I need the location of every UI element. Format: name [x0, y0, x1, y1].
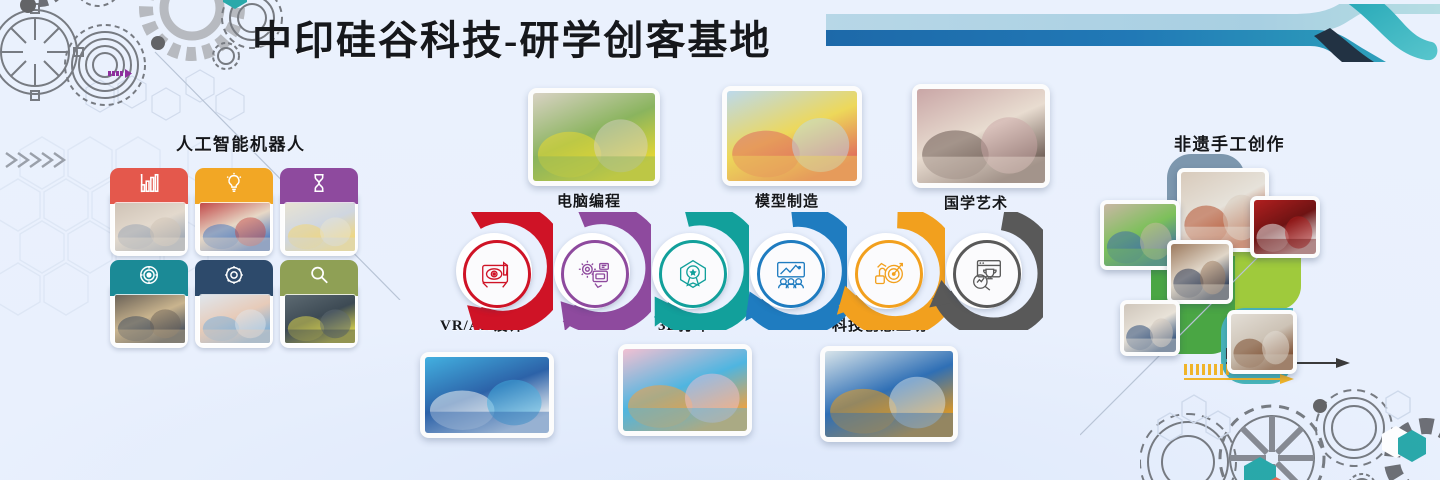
card-photo [114, 294, 186, 344]
ai-robot-card[interactable] [108, 260, 190, 348]
banner-canvas: 中印硅谷科技-研学创客基地 人工智能机器人 [0, 0, 1440, 480]
lightbulb-icon [223, 172, 245, 194]
card-photo [284, 202, 356, 252]
collage-photo[interactable] [1120, 300, 1180, 356]
ai-robot-card[interactable] [278, 260, 360, 348]
ai-robot-card-grid [108, 168, 368, 353]
photo-card[interactable] [820, 346, 958, 442]
card-photo [199, 294, 271, 344]
card-photo [199, 202, 271, 252]
hourglass-icon [308, 172, 330, 194]
smart-manufacturing-icon [561, 240, 629, 308]
card-photo [284, 294, 356, 344]
bar-chart-icon [138, 172, 160, 194]
photo-card[interactable] [722, 86, 862, 186]
card-photo [114, 202, 186, 252]
photo-thumbnail [1254, 200, 1316, 254]
photo-thumbnail [425, 357, 549, 433]
photo-thumbnail [533, 93, 655, 181]
header-ribbon [826, 4, 1440, 82]
collage-photo[interactable] [1167, 240, 1233, 304]
photo-thumbnail [1231, 314, 1293, 370]
page-title: 中印硅谷科技-研学创客基地 [252, 8, 771, 66]
ai-robot-card[interactable] [193, 168, 275, 256]
section-title-heritage-craft: 非遗手工创作 [1174, 130, 1285, 155]
collage-photo[interactable] [1227, 310, 1297, 374]
team-growth-icon [757, 240, 825, 308]
section-title-ai-robot: 人工智能机器人 [176, 130, 306, 155]
photo-caption: 国学艺术 [912, 192, 1040, 213]
vr-design-icon [463, 240, 531, 308]
photo-card[interactable] [618, 344, 752, 436]
photo-thumbnail [1104, 204, 1176, 266]
photo-thumbnail [825, 351, 953, 437]
photo-thumbnail [1171, 244, 1229, 300]
process-badge[interactable] [925, 212, 1043, 330]
photo-thumbnail [917, 89, 1045, 183]
small-purple-arrow-decor [108, 68, 132, 78]
photo-thumbnail [623, 349, 747, 431]
photo-card[interactable] [420, 352, 554, 438]
photo-card[interactable] [528, 88, 660, 186]
photo-caption: 模型制造 [722, 190, 852, 211]
photo-thumbnail [1124, 304, 1176, 352]
collage-photo[interactable] [1250, 196, 1320, 258]
chevron-arrows-decor [4, 150, 74, 170]
trophy-screen-icon [953, 240, 1021, 308]
ai-robot-card[interactable] [278, 168, 360, 256]
ai-robot-card[interactable] [108, 168, 190, 256]
award-badge-icon [659, 240, 727, 308]
magnifier-icon [308, 264, 330, 286]
photo-thumbnail [727, 91, 857, 181]
gear-icon [223, 264, 245, 286]
ai-robot-card[interactable] [193, 260, 275, 348]
photo-caption: 电脑编程 [528, 190, 650, 211]
target-icon [138, 264, 160, 286]
target-rocket-icon [855, 240, 923, 308]
photo-card[interactable] [912, 84, 1050, 188]
